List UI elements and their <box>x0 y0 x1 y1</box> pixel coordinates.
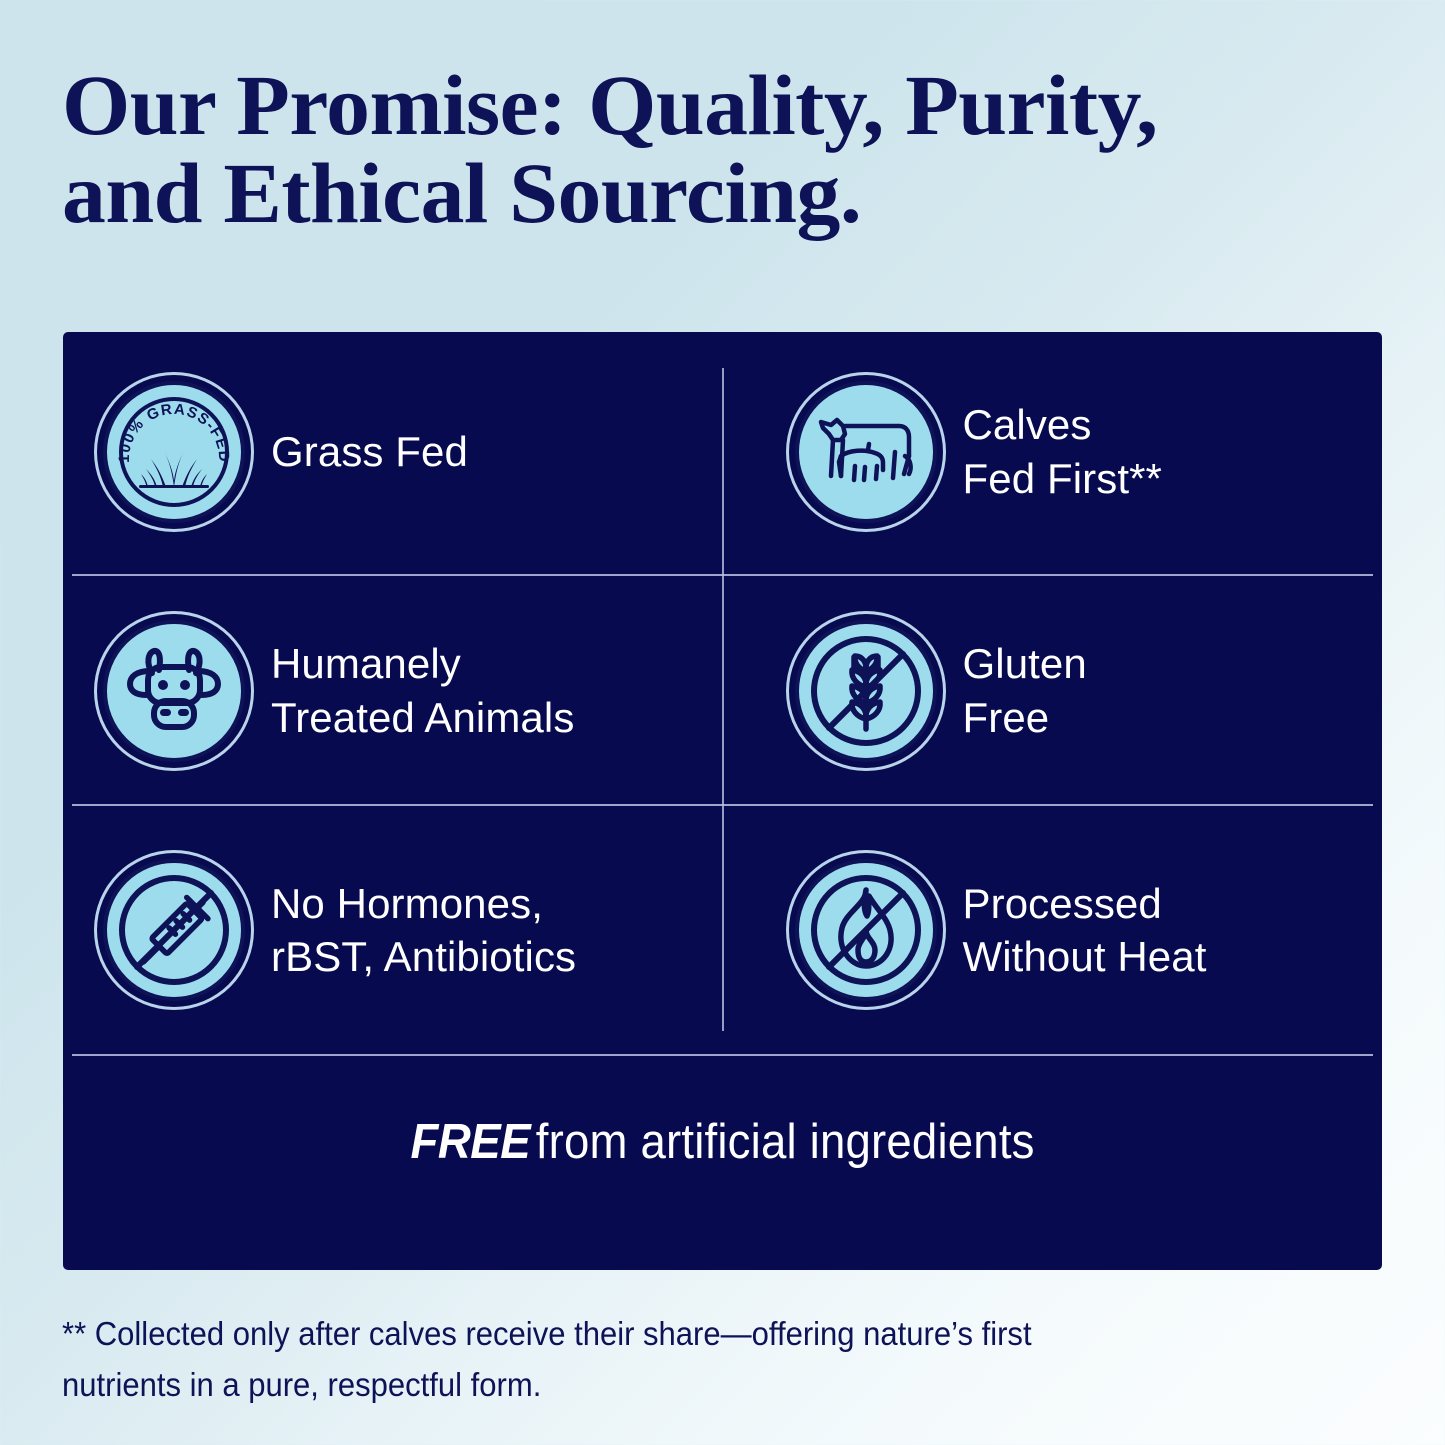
no-flame-icon <box>795 859 937 1001</box>
free-rest: from artificial ingredients <box>536 1115 1035 1169</box>
feature-item-no-hormones: No Hormones, rBST, Antibiotics <box>63 811 723 1050</box>
page-title-line-2: and Ethical Sourcing. <box>62 150 1445 238</box>
no-wheat-icon <box>795 620 937 762</box>
feature-item-calves-fed-first: Calves Fed First** <box>723 332 1383 571</box>
free-emphasis: FREE <box>410 1115 530 1169</box>
feature-label-calves-fed-first: Calves Fed First** <box>963 398 1162 506</box>
cow-face-icon <box>103 620 245 762</box>
svg-text:100% GRASS-FED: 100% GRASS-FED <box>116 400 232 463</box>
footnote-line-1: ** Collected only after calves receive t… <box>62 1308 1032 1359</box>
page-title-line-1: Our Promise: Quality, Purity, <box>62 62 1445 150</box>
feature-label-no-hormones: No Hormones, rBST, Antibiotics <box>271 877 576 985</box>
footnote: ** Collected only after calves receive t… <box>62 1308 1162 1410</box>
promise-graphic: Our Promise: Quality, Purity, and Ethica… <box>0 0 1445 1445</box>
divider-row-3 <box>72 1054 1373 1056</box>
feature-label-humanely-treated: Humanely Treated Animals <box>271 637 574 745</box>
no-syringe-icon <box>103 859 245 1001</box>
cow-nursing-calf-icon <box>795 381 937 523</box>
feature-item-gluten-free: Gluten Free <box>723 571 1383 810</box>
feature-label-grass-fed: Grass Fed <box>271 425 468 479</box>
footnote-line-2: nutrients in a pure, respectful form. <box>62 1359 1032 1410</box>
feature-item-humanely-treated: Humanely Treated Animals <box>63 571 723 810</box>
free-statement: FREEfrom artificial ingredients <box>0 1118 1445 1167</box>
page-title: Our Promise: Quality, Purity, and Ethica… <box>62 62 1445 237</box>
feature-item-no-heat: Processed Without Heat <box>723 811 1383 1050</box>
grass-fed-seal-icon: 100% GRASS-FED <box>103 381 245 523</box>
feature-item-grass-fed: 100% GRASS-FED <box>63 332 723 571</box>
feature-label-gluten-free: Gluten Free <box>963 637 1087 745</box>
divider-column <box>722 368 724 1031</box>
feature-label-no-heat: Processed Without Heat <box>963 877 1207 985</box>
